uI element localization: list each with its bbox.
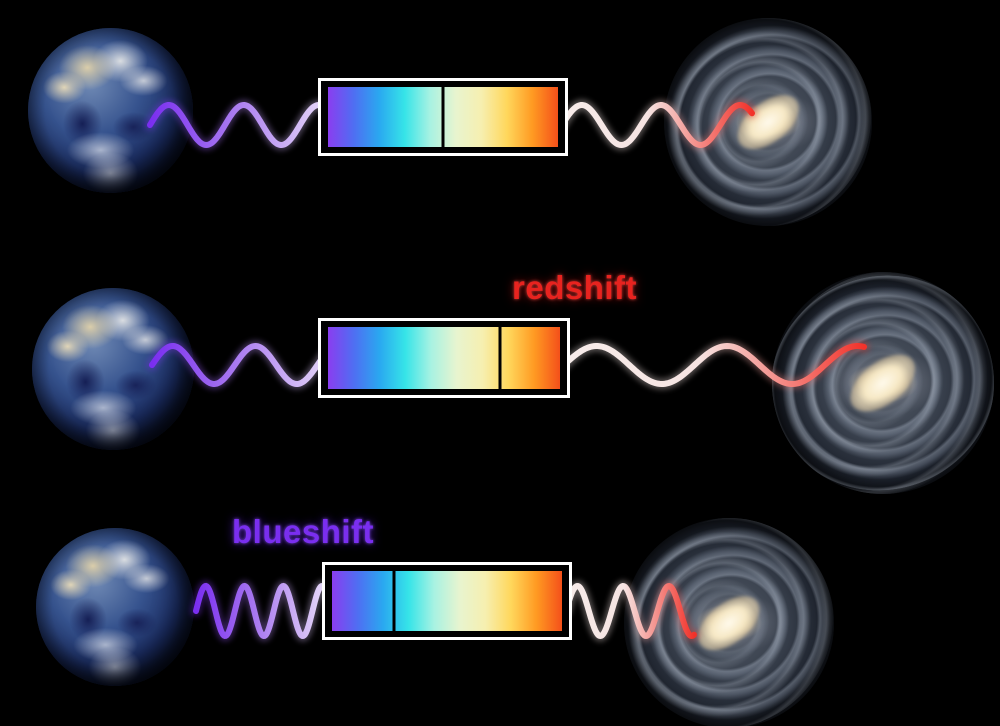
diagram-canvas: redshiftblueshift [0, 0, 1000, 726]
label-blueshift: blueshift [232, 513, 374, 551]
right-wave-graphic [566, 578, 694, 644]
diagram-row-row-blueshift: blueshift [0, 0, 1000, 726]
earth-row-blueshift [36, 528, 194, 686]
spectrum-band-row-blueshift [332, 571, 562, 631]
right-wave-row-blueshift [566, 578, 694, 644]
absorption-line-row-blueshift [393, 571, 396, 631]
left-wave-row-blueshift [196, 578, 328, 644]
left-wave-graphic [196, 578, 328, 644]
spectrum-inner-row-blueshift [325, 565, 569, 637]
spectrum-frame-row-blueshift [322, 562, 572, 640]
